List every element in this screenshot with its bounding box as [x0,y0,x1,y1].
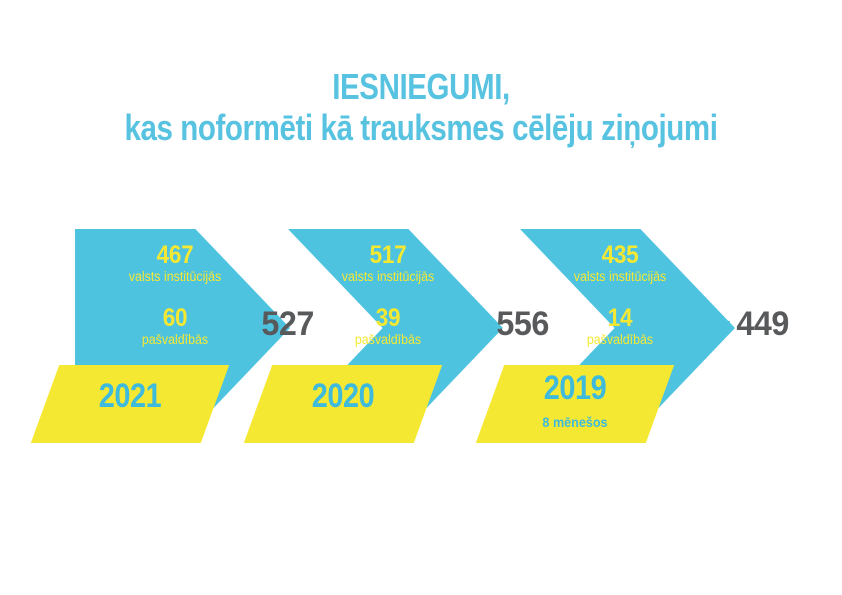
total-value-2020: 556 [496,307,548,341]
year-label-2021: 2021 [99,377,162,416]
year-plate-inner: 2021 [45,365,215,443]
stat-spacer [540,286,700,306]
equals-icon: = [243,315,256,337]
year-label-2019: 2019 [544,369,607,408]
stat-label-municipal-2021: pašvaldībās [101,332,248,349]
total-value-2019: 449 [736,307,788,341]
stat-spacer [95,286,255,306]
year-label-2020: 2020 [312,377,375,416]
stat-value-state-2021: 467 [103,243,247,268]
total-value-2021: 527 [261,307,313,341]
year-plate-2019: 2019 8 mēnešos [476,365,674,443]
stat-label-state-2021: valsts institūcijās [101,269,248,286]
title-line-secondary: kas noformēti kā trauksmes cēlēju ziņoju… [76,109,766,148]
equals-icon: = [478,315,491,337]
stats-block-2021: 467 valsts institūcijās 60 pašvaldībās [95,243,255,349]
year-plate-inner: 2020 [258,365,428,443]
stat-value-municipal-2021: 60 [103,306,247,331]
stat-label-state-2019: valsts institūcijās [546,269,693,286]
equals-icon: = [718,315,731,337]
total-2020: = 556 [478,307,550,341]
page-title: IESNIEGUMI, kas noformēti kā trauksmes c… [0,68,842,148]
stat-label-municipal-2020: pašvaldībās [314,332,461,349]
year-plate-2021: 2021 [31,365,229,443]
stats-block-2020: 517 valsts institūcijās 39 pašvaldībās [308,243,468,349]
total-2021: = 527 [243,307,315,341]
stat-spacer [308,286,468,306]
year-plate-inner: 2019 8 mēnešos [490,365,660,443]
stat-label-municipal-2019: pašvaldībās [546,332,693,349]
title-line-primary: IESNIEGUMI, [76,68,766,107]
stat-label-state-2020: valsts institūcijās [314,269,461,286]
stats-block-2019: 435 valsts institūcijās 14 pašvaldībās [540,243,700,349]
stat-value-state-2020: 517 [316,243,460,268]
stat-value-municipal-2020: 39 [316,306,460,331]
stat-value-state-2019: 435 [548,243,692,268]
year-plate-2020: 2020 [244,365,442,443]
year-note-2019: 8 mēnešos [542,414,607,430]
chevron-flow-chart: 467 valsts institūcijās 60 pašvaldībās 2… [0,215,842,460]
stat-value-municipal-2019: 14 [548,306,692,331]
total-2019: = 449 [718,307,790,341]
